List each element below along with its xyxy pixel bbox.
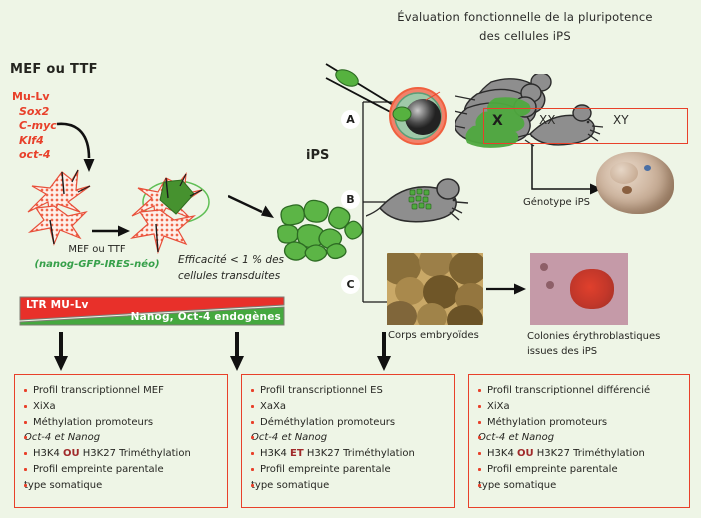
result-box-es: Profil transcriptionnel ES XaXa Déméthyl… (241, 374, 455, 508)
embryoid-bodies-photo (387, 253, 483, 325)
list-item: type somatique (24, 479, 219, 493)
arrow-down-box3-icon (376, 332, 392, 372)
step-label-c: C (341, 275, 360, 294)
gene-cmyc: C-myc (19, 119, 57, 134)
list-item: Méthylation promoteurs (24, 416, 219, 430)
list-item: H3K4 ET H3K27 Triméthylation (251, 447, 446, 461)
result-list-mef: Profil transcriptionnel MEF XiXa Méthyla… (24, 384, 219, 493)
list-item: Oct-4 et Nanog (24, 431, 219, 445)
step-label-b: B (341, 190, 360, 209)
emphasis-conjunction: ET (290, 448, 304, 459)
gene-oct4: oct-4 (19, 148, 57, 163)
result-box-mef: Profil transcriptionnel MEF XiXa Méthyla… (14, 374, 228, 508)
result-list-differentiated: Profil transcriptionnel différencié XiXa… (478, 384, 681, 493)
gradient-bar-right-label: Nanog, Oct-4 endogènes (131, 311, 281, 323)
emphasis-conjunction: OU (63, 448, 80, 459)
arrow-reprogramming-icon (228, 194, 276, 220)
reprogramming-gene-list: Mu-Lv Sox2 C-myc Klf4 oct-4 (12, 90, 57, 163)
erythroblast-colony-photo (530, 253, 628, 325)
embryo-photo (596, 152, 674, 214)
list-item: Déméthylation promoteurs (251, 416, 446, 430)
colonies-caption-line2: issues des iPS (527, 346, 597, 357)
list-item: XaXa (251, 400, 446, 414)
expression-gradient-bar: LTR MU-Lv Nanog, Oct-4 endogènes (18, 296, 286, 326)
list-item: Profil empreinte parentale (251, 463, 446, 477)
ips-label: iPS (306, 148, 329, 163)
gene-sox2: Sox2 (19, 105, 57, 120)
list-item: XiXa (24, 400, 219, 414)
mef-cell-caption: MEF ou TTF (nanog-GFP-IRES-néo) (22, 243, 172, 272)
list-item: Oct-4 et Nanog (251, 431, 446, 445)
list-item: type somatique (478, 479, 681, 493)
list-item: Profil empreinte parentale (478, 463, 681, 477)
list-item: Profil empreinte parentale (24, 463, 219, 477)
list-item: Oct-4 et Nanog (478, 431, 681, 445)
genotype-caption: Génotype iPS (523, 197, 590, 208)
mef-cell-caption-construct: (nanog-GFP-IRES-néo) (22, 258, 172, 273)
colonies-caption-line1: Colonies érythroblastiques (527, 331, 660, 342)
cross-highlight-box (483, 108, 688, 144)
arrow-down-box1-icon (53, 332, 69, 372)
figure-title-line2: des cellules iPS (360, 27, 690, 46)
list-item: H3K4 OU H3K27 Triméthylation (478, 447, 681, 461)
figure-root: Évaluation fonctionnelle de la pluripote… (0, 0, 701, 518)
gradient-bar-left-label: LTR MU-Lv (26, 299, 89, 311)
list-item: Profil transcriptionnel différencié (478, 384, 681, 398)
list-item: Méthylation promoteurs (478, 416, 681, 430)
gene-klf4: Klf4 (19, 134, 57, 149)
emphasis-conjunction: OU (517, 448, 534, 459)
figure-title-line1: Évaluation fonctionnelle de la pluripote… (360, 8, 690, 27)
embryoid-caption: Corps embryoïdes (388, 330, 479, 341)
vector-label: Mu-Lv (12, 90, 57, 105)
arrow-differentiation-icon (486, 282, 528, 296)
arrow-down-box2-icon (229, 332, 245, 372)
list-item: XiXa (478, 400, 681, 414)
result-list-es: Profil transcriptionnel ES XaXa Déméthyl… (251, 384, 446, 493)
result-box-differentiated: Profil transcriptionnel différencié XiXa… (468, 374, 690, 508)
figure-title: Évaluation fonctionnelle de la pluripote… (360, 8, 690, 46)
list-item: type somatique (251, 479, 446, 493)
mef-ttf-heading: MEF ou TTF (10, 62, 98, 77)
list-item: Profil transcriptionnel ES (251, 384, 446, 398)
list-item: Profil transcriptionnel MEF (24, 384, 219, 398)
chimeric-mouse-b-icon (366, 178, 472, 238)
blastocyst-injection-icon (322, 56, 448, 148)
colonies-caption: Colonies érythroblastiques issues des iP… (527, 330, 692, 359)
mef-cell-caption-line1: MEF ou TTF (68, 244, 125, 255)
list-item: H3K4 OU H3K27 Triméthylation (24, 447, 219, 461)
